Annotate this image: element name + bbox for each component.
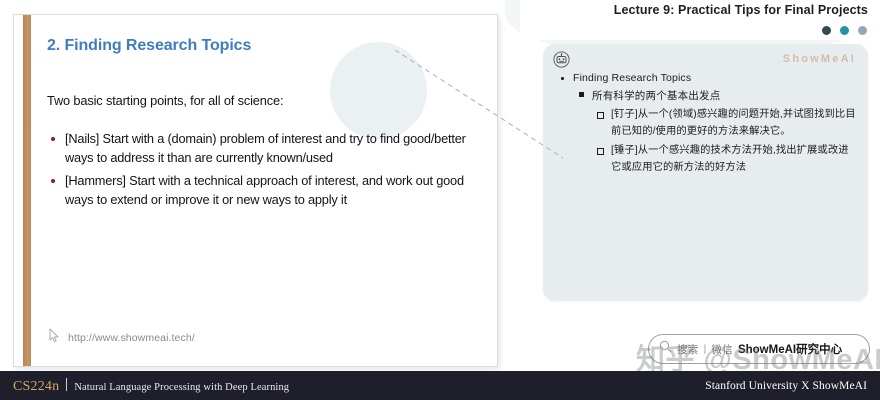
wechat-follow-pill[interactable]: 搜索 | 微信 ShowMeAI研究中心 xyxy=(648,334,870,364)
course-name: Natural Language Processing with Deep Le… xyxy=(74,382,289,393)
slide-footer: http://www.showmeai.tech/ xyxy=(48,328,195,348)
translation-note-panel: ShowMeAI Finding Research Topics 所有科学的两个… xyxy=(543,44,868,301)
course-code: CS224n xyxy=(13,379,59,395)
note-level2-two-basic-starting-points: 所有科学的两个基本出发点 xyxy=(555,88,858,103)
cursor-pointer-icon xyxy=(48,328,61,348)
note-level3-hammers: [锤子]从一个感兴趣的技术方法开始,找出扩展或改进它或应用它的新方法的好方法 xyxy=(555,143,858,176)
dot-dark-teal xyxy=(822,26,831,35)
course-footer-left: CS224n Natural Language Processing with … xyxy=(13,377,289,395)
slide-footer-url[interactable]: http://www.showmeai.tech/ xyxy=(68,332,195,344)
presentation-slide: 2. Finding Research Topics Two basic sta… xyxy=(13,14,498,367)
note-outline-list: Finding Research Topics 所有科学的两个基本出发点 [钉子… xyxy=(555,72,858,179)
note-panel-brand: ShowMeAI xyxy=(783,53,856,65)
course-affiliation: Stanford University X ShowMeAI xyxy=(705,380,867,392)
robot-ai-icon xyxy=(553,51,570,73)
footer-divider xyxy=(66,378,67,391)
dot-teal xyxy=(840,26,849,35)
dot-slate xyxy=(858,26,867,35)
slide-accent-bar xyxy=(23,15,31,366)
slide-lead-text: Two basic starting points, for all of sc… xyxy=(47,93,498,108)
note-level1-finding-research-topics: Finding Research Topics xyxy=(555,72,858,84)
pill-separator: | xyxy=(704,343,707,355)
lecture-header: Lecture 9: Practical Tips for Final Proj… xyxy=(520,0,880,40)
pill-channel-label: 微信 xyxy=(711,342,733,357)
lecture-title: Lecture 9: Practical Tips for Final Proj… xyxy=(614,3,868,17)
header-dot-group xyxy=(822,26,867,35)
slide-bullet-nails: [Nails] Start with a (domain) problem of… xyxy=(47,130,485,167)
search-icon xyxy=(659,340,672,358)
slide-bullet-list: [Nails] Start with a (domain) problem of… xyxy=(47,130,485,209)
slide-highlight-circle xyxy=(330,42,427,139)
slide-title: 2. Finding Research Topics xyxy=(47,37,498,55)
pill-search-label: 搜索 xyxy=(677,342,699,357)
slide-bullet-hammers: [Hammers] Start with a technical approac… xyxy=(47,172,485,209)
course-footer-bar: CS224n Natural Language Processing with … xyxy=(0,371,880,400)
note-level3-nails: [钉子]从一个(领域)感兴趣的问题开始,并试图找到比目前已知的/使用的更好的方法… xyxy=(555,107,858,140)
slide-screenshot-root: Lecture 9: Practical Tips for Final Proj… xyxy=(0,0,880,400)
pill-account-name: ShowMeAI研究中心 xyxy=(738,341,842,357)
